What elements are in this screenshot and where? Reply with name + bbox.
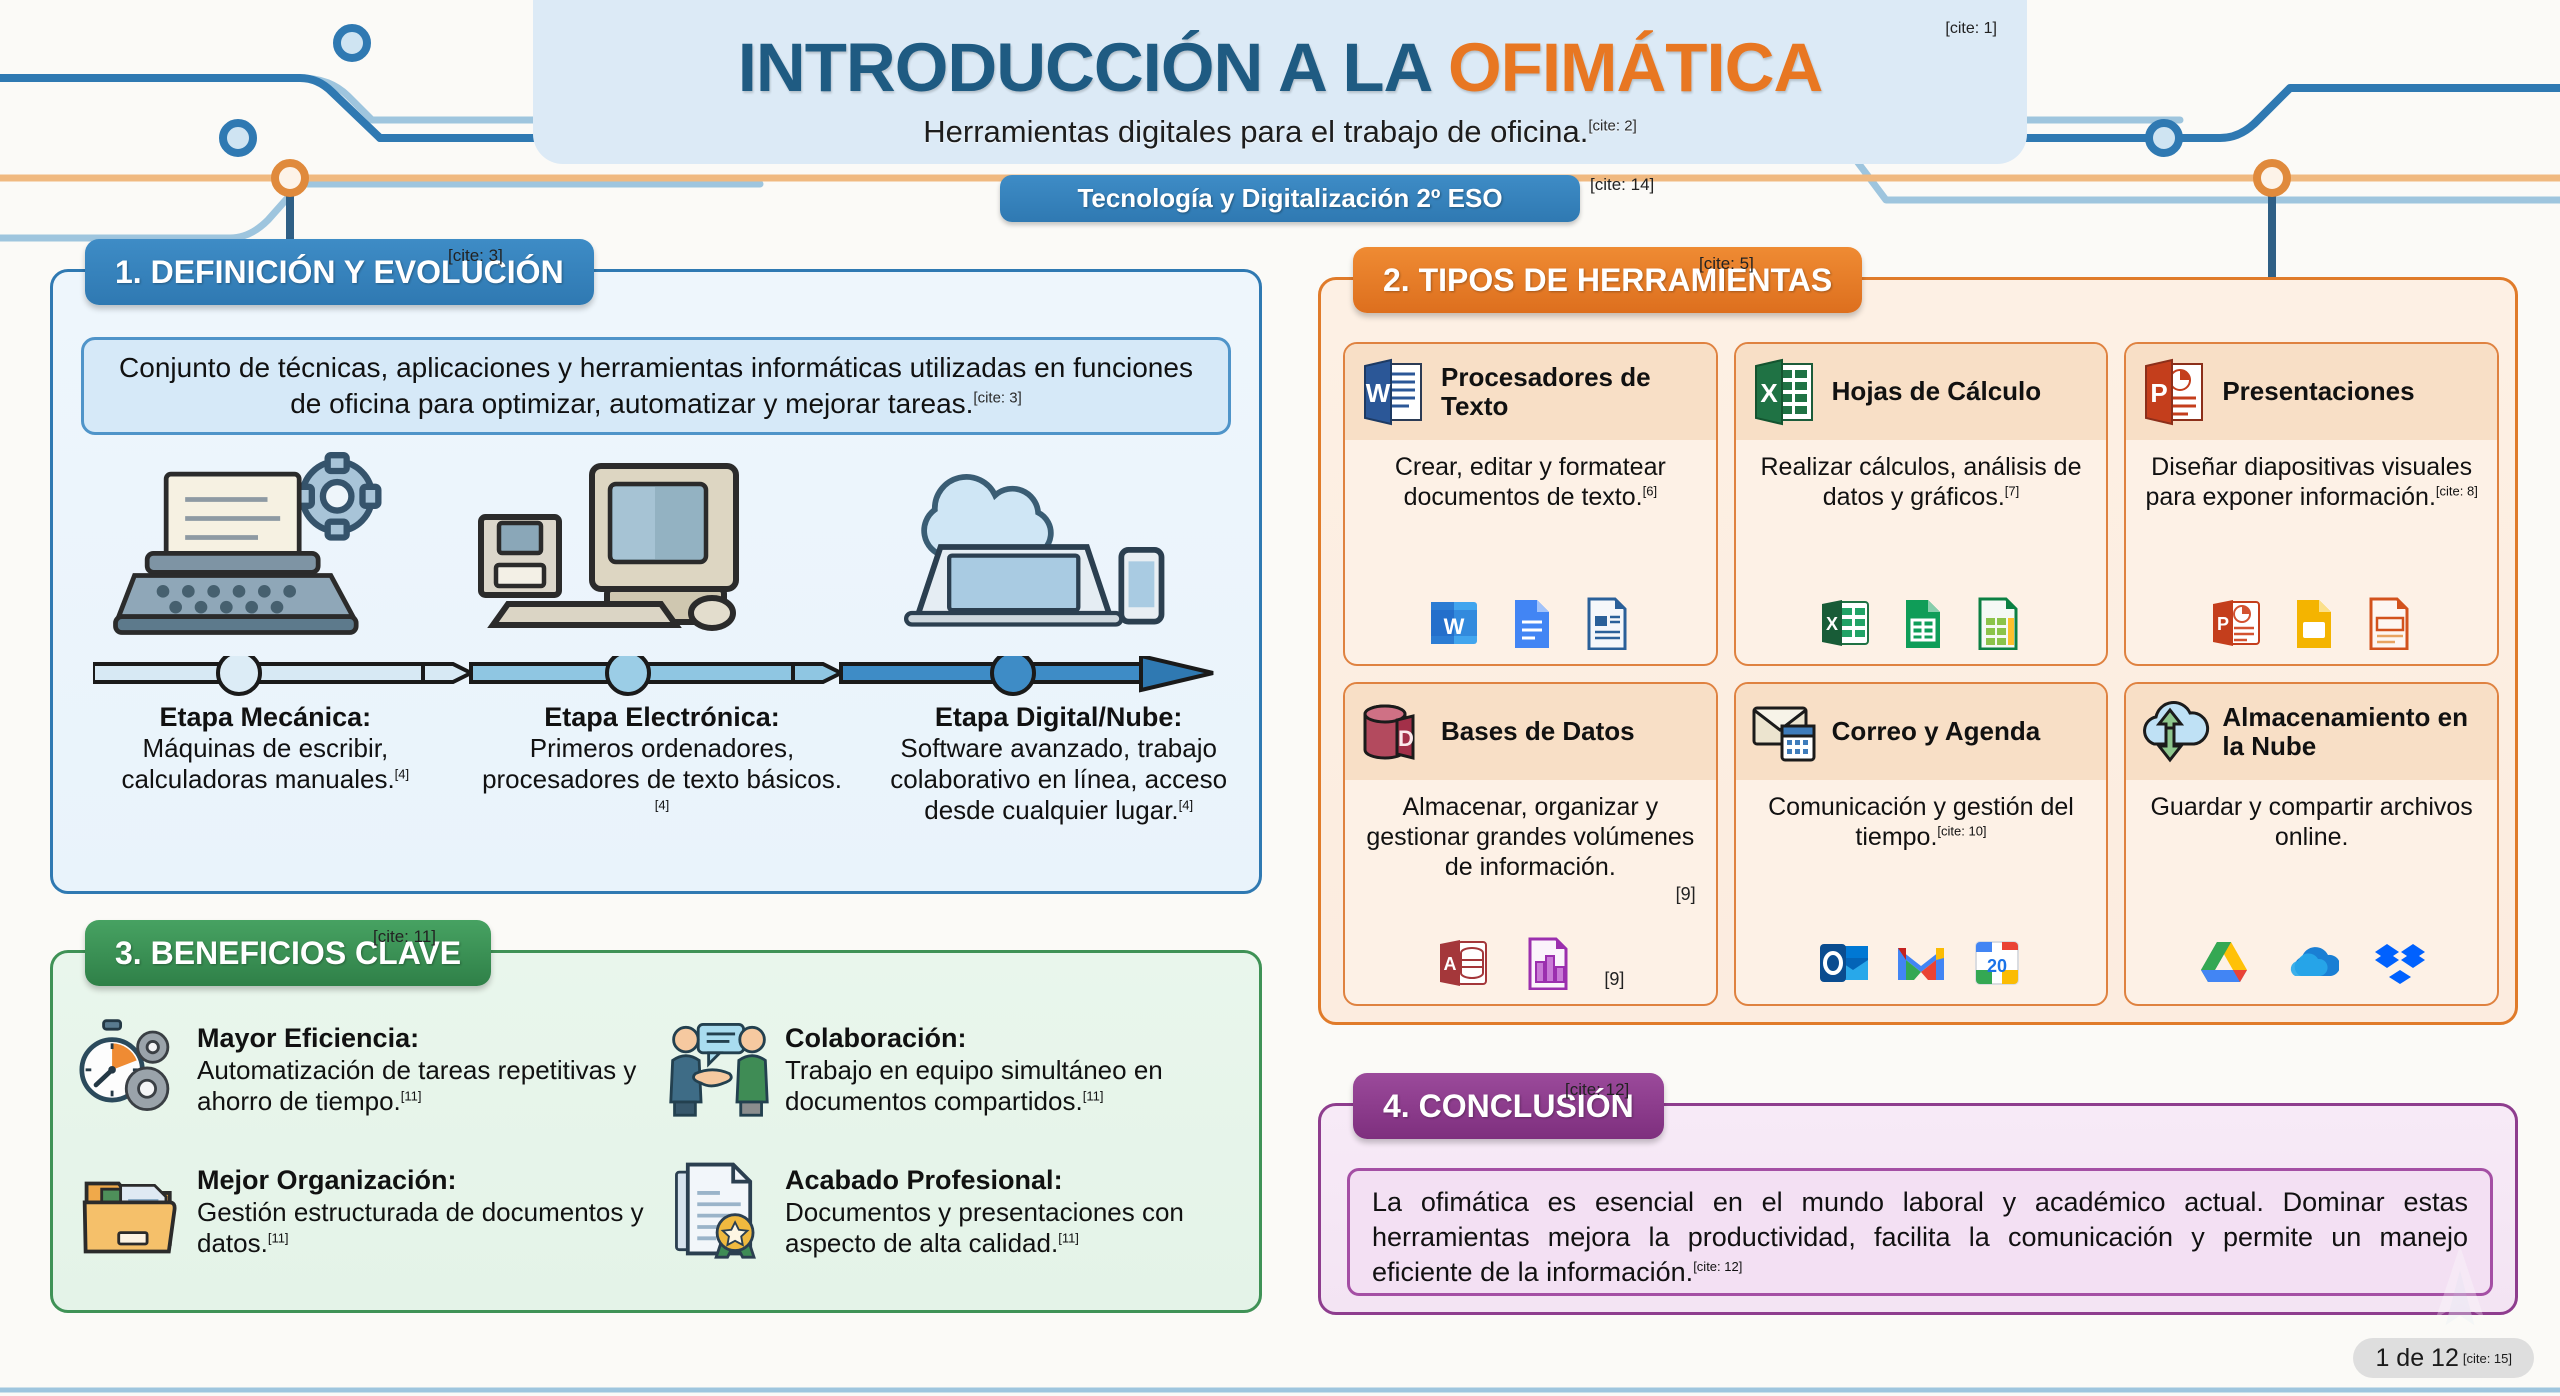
microsoft-powerpoint-icon: P xyxy=(2209,596,2263,650)
benefit-item: Acabado Profesional: Documentos y presen… xyxy=(667,1157,1239,1295)
benefit-desc: Documentos y presentaciones con aspecto … xyxy=(785,1197,1239,1258)
libreoffice-base-icon xyxy=(1520,936,1574,990)
stage-title: Etapa Mecánica: xyxy=(81,702,450,733)
benefit-item: Mejor Organización: Gestión estructurada… xyxy=(79,1157,651,1295)
benefit-cite: [11] xyxy=(1083,1088,1104,1103)
page-subtitle-text: Herramientas digitales para el trabajo d… xyxy=(923,114,1588,149)
page-subtitle: Herramientas digitales para el trabajo d… xyxy=(923,114,1637,150)
benefit-desc: Automatización de tareas repetitivas y a… xyxy=(197,1055,651,1116)
stage-title: Etapa Digital/Nube: xyxy=(874,702,1243,733)
circuit-node xyxy=(275,163,305,193)
database-cylinder-icon: D xyxy=(1357,696,1429,768)
section-beneficios-heading-cite: [cite: 11] xyxy=(373,927,436,947)
microsoft-excel-icon: X xyxy=(1818,596,1872,650)
svg-text:X: X xyxy=(1760,378,1778,408)
tool-card-apps: 20 xyxy=(1736,928,2107,1004)
circuit-node xyxy=(223,123,253,153)
tool-card-desc: Almacenar, organizar y gestionar grandes… xyxy=(1355,792,1706,882)
desktop-computer-floppy-icon xyxy=(463,452,793,642)
tool-card-hojas-calculo[interactable]: X Hojas de Cálculo Realizar cálculos, an… xyxy=(1734,342,2109,666)
section-definicion-heading-cite: [cite: 3] xyxy=(448,246,503,266)
timeline-stage: Etapa Electrónica: Primeros ordenadores,… xyxy=(464,702,861,827)
excel-spreadsheet-icon: X xyxy=(1748,356,1820,428)
envelope-calendar-icon xyxy=(1748,696,1820,768)
tool-card-cite: [cite: 10] xyxy=(1937,824,1986,839)
conclusion-text: La ofimática es esencial en el mundo lab… xyxy=(1372,1187,2468,1287)
svg-text:D: D xyxy=(1398,726,1414,751)
conclusion-box: La ofimática es esencial en el mundo lab… xyxy=(1347,1168,2493,1296)
tool-card-apps: X xyxy=(1736,588,2107,664)
section-definicion-evolucion: 1. DEFINICIÓN Y EVOLUCIÓN [cite: 3] Conj… xyxy=(50,269,1262,894)
hero-banner: INTRODUCCIÓN A LA OFIMÁTICA Herramientas… xyxy=(533,0,2027,164)
svg-text:W: W xyxy=(1366,378,1391,408)
page-subtitle-cite: [cite: 2] xyxy=(1588,118,1636,135)
tool-card-correo-agenda[interactable]: Correo y Agenda Comunicación y gestión d… xyxy=(1734,682,2109,1006)
google-calendar-icon: 20 xyxy=(1970,936,2024,990)
stage-desc-text: Primeros ordenadores, procesadores de te… xyxy=(482,733,842,794)
timeline-stage: Etapa Digital/Nube: Software avanzado, t… xyxy=(860,702,1257,827)
tool-card-title: Correo y Agenda xyxy=(1832,717,2041,746)
svg-text:20: 20 xyxy=(1987,956,2007,976)
stopwatch-gears-icon xyxy=(79,1015,183,1119)
word-document-icon: W xyxy=(1357,356,1429,428)
section-tipos-heading: 2. TIPOS DE HERRAMIENTAS xyxy=(1353,247,1862,313)
section-tipos-heading-label: 2. TIPOS DE HERRAMIENTAS xyxy=(1383,262,1832,299)
benefit-cite: [11] xyxy=(1058,1230,1079,1245)
timeline-node xyxy=(607,656,649,694)
benefit-desc-text: Trabajo en equipo simultáneo en document… xyxy=(785,1055,1163,1116)
benefit-title: Acabado Profesional: xyxy=(785,1165,1239,1197)
libreoffice-writer-icon xyxy=(1579,596,1633,650)
section-conclusion: 4. CONCLUSIÓN [cite: 12] La ofimática es… xyxy=(1318,1103,2518,1315)
tool-card-extra-cite: [9] xyxy=(1676,884,1696,904)
definition-text: Conjunto de técnicas, aplicaciones y her… xyxy=(119,352,1193,419)
stage-desc: Primeros ordenadores, procesadores de te… xyxy=(478,733,847,827)
conclusion-cite: [cite: 12] xyxy=(1693,1259,1742,1274)
benefit-title: Mayor Eficiencia: xyxy=(197,1023,651,1055)
tools-grid: W Procesadores de Texto Crear, editar y … xyxy=(1343,342,2499,1006)
section-conclusion-heading-cite: [cite: 12] xyxy=(1565,1080,1629,1100)
tool-card-cite: [6] xyxy=(1643,484,1657,499)
cloud-upload-download-icon xyxy=(2138,696,2210,768)
page-indicator-label: 1 de 12 xyxy=(2375,1344,2458,1373)
tool-card-apps xyxy=(2126,928,2497,1004)
typewriter-gear-icon xyxy=(93,452,423,642)
page-indicator: 1 de 12[cite: 15] xyxy=(2353,1338,2534,1378)
tool-card-cite: [9] xyxy=(1604,969,1624,990)
circuit-node xyxy=(337,28,367,58)
microsoft-word-icon: W xyxy=(1427,596,1481,650)
benefit-desc: Gestión estructurada de documentos y dat… xyxy=(197,1197,651,1258)
tool-card-apps: A [9] xyxy=(1345,928,1716,1004)
folder-documents-icon xyxy=(79,1157,183,1261)
tool-card-desc: Guardar y compartir archivos online. xyxy=(2136,792,2487,852)
gmail-icon xyxy=(1894,936,1948,990)
google-docs-icon xyxy=(1503,596,1557,650)
tool-card-desc-text: Realizar cálculos, análisis de datos y g… xyxy=(1761,453,2082,511)
tool-card-cite: [7] xyxy=(2005,484,2019,499)
benefit-item: Mayor Eficiencia: Automatización de tare… xyxy=(79,1015,651,1153)
tool-card-desc-text: Guardar y compartir archivos online. xyxy=(2150,793,2472,851)
tool-card-title: Bases de Datos xyxy=(1441,717,1635,746)
timeline-axis xyxy=(93,656,1223,696)
powerpoint-slide-icon: P xyxy=(2138,356,2210,428)
tool-card-title: Hojas de Cálculo xyxy=(1832,377,2042,406)
tool-card-desc-text: Diseñar diapositivas visuales para expon… xyxy=(2145,453,2472,511)
tool-card-apps: P xyxy=(2126,588,2497,664)
page-title-cite: [cite: 1] xyxy=(1945,20,1997,38)
stage-title: Etapa Electrónica: xyxy=(478,702,847,733)
benefit-cite: [11] xyxy=(401,1088,422,1103)
timeline-node xyxy=(218,656,260,694)
tool-card-desc: Comunicación y gestión del tiempo.[cite:… xyxy=(1746,792,2097,852)
tool-card-desc-text: Crear, editar y formatear documentos de … xyxy=(1395,453,1666,511)
timeline-stage: Etapa Mecánica: Máquinas de escribir, ca… xyxy=(67,702,464,827)
microsoft-outlook-icon xyxy=(1818,936,1872,990)
tool-card-procesadores-texto[interactable]: W Procesadores de Texto Crear, editar y … xyxy=(1343,342,1718,666)
section-beneficios-clave: 3. BENEFICIOS CLAVE [cite: 11] xyxy=(50,950,1262,1313)
benefits-grid: Mayor Eficiencia: Automatización de tare… xyxy=(79,1015,1239,1295)
tool-card-almacenamiento-nube[interactable]: Almacenamiento en la Nube Guardar y comp… xyxy=(2124,682,2499,1006)
timeline-stage-list: Etapa Mecánica: Máquinas de escribir, ca… xyxy=(67,702,1257,827)
timeline-illustrations xyxy=(53,452,1265,642)
tool-card-bases-datos[interactable]: D Bases de Datos Almacenar, organizar y … xyxy=(1343,682,1718,1006)
benefit-title: Colaboración: xyxy=(785,1023,1239,1055)
svg-text:W: W xyxy=(1444,614,1465,639)
stage-desc: Software avanzado, trabajo colaborativo … xyxy=(874,733,1243,827)
page-title-accent: OFIMÁTICA xyxy=(1448,29,1822,106)
libreoffice-impress-icon xyxy=(2361,596,2415,650)
document-award-icon xyxy=(667,1157,771,1261)
benefit-desc: Trabajo en equipo simultáneo en document… xyxy=(785,1055,1239,1116)
stage-desc-text: Máquinas de escribir, calculadoras manua… xyxy=(122,733,395,794)
cloud-laptop-mobile-icon xyxy=(843,452,1173,642)
section-tipos-heading-cite: [cite: 5] xyxy=(1699,254,1754,274)
tool-card-title: Presentaciones xyxy=(2222,377,2414,406)
tool-card-presentaciones[interactable]: P Presentaciones Diseñar diapositivas vi… xyxy=(2124,342,2499,666)
benefit-desc-text: Gestión estructurada de documentos y dat… xyxy=(197,1197,644,1258)
handshake-chat-icon xyxy=(667,1015,771,1119)
benefit-cite: [11] xyxy=(268,1230,289,1245)
tool-card-desc-text: Almacenar, organizar y gestionar grandes… xyxy=(1366,793,1694,881)
course-badge-label: Tecnología y Digitalización 2º ESO xyxy=(1077,183,1502,214)
google-drive-icon xyxy=(2197,936,2251,990)
page-indicator-cite: [cite: 15] xyxy=(2463,1351,2512,1366)
svg-text:X: X xyxy=(1826,614,1838,634)
svg-text:P: P xyxy=(2151,378,2168,408)
watermark-logo xyxy=(2400,1234,2520,1354)
svg-text:P: P xyxy=(2217,614,2229,634)
tool-card-desc-text: Comunicación y gestión del tiempo. xyxy=(1768,793,2074,851)
stage-cite: [4] xyxy=(395,767,409,782)
course-badge-cite: [cite: 14] xyxy=(1590,175,1654,195)
page-title-main: INTRODUCCIÓN A LA xyxy=(738,29,1448,106)
benefit-desc-text: Automatización de tareas repetitivas y a… xyxy=(197,1055,636,1116)
page-title: INTRODUCCIÓN A LA OFIMÁTICA xyxy=(738,32,1823,104)
svg-text:A: A xyxy=(1444,954,1457,974)
stage-desc: Máquinas de escribir, calculadoras manua… xyxy=(81,733,450,795)
stage-cite: [4] xyxy=(1179,798,1193,813)
benefit-desc-text: Documentos y presentaciones con aspecto … xyxy=(785,1197,1184,1258)
tool-card-title: Almacenamiento en la Nube xyxy=(2222,703,2485,761)
microsoft-access-icon: A xyxy=(1436,936,1490,990)
circuit-node xyxy=(2149,123,2179,153)
tool-card-cite: [cite: 8] xyxy=(2436,484,2478,499)
tool-card-desc: Diseñar diapositivas visuales para expon… xyxy=(2136,452,2487,512)
tool-card-desc: Crear, editar y formatear documentos de … xyxy=(1355,452,1706,512)
libreoffice-calc-icon xyxy=(1970,596,2024,650)
stage-cite: [4] xyxy=(655,798,669,813)
circuit-node xyxy=(2257,163,2287,193)
tool-card-apps: W xyxy=(1345,588,1716,664)
google-sheets-icon xyxy=(1894,596,1948,650)
benefit-item: Colaboración: Trabajo en equipo simultán… xyxy=(667,1015,1239,1153)
definition-box: Conjunto de técnicas, aplicaciones y her… xyxy=(81,337,1231,435)
course-badge: Tecnología y Digitalización 2º ESO xyxy=(1000,175,1580,222)
benefit-title: Mejor Organización: xyxy=(197,1165,651,1197)
dropbox-icon xyxy=(2373,936,2427,990)
onedrive-icon xyxy=(2285,936,2339,990)
definition-cite: [cite: 3] xyxy=(973,390,1021,407)
timeline-node xyxy=(992,656,1034,694)
tool-card-desc: Realizar cálculos, análisis de datos y g… xyxy=(1746,452,2097,512)
tool-card-title: Procesadores de Texto xyxy=(1441,363,1704,421)
google-slides-icon xyxy=(2285,596,2339,650)
section-definicion-heading: 1. DEFINICIÓN Y EVOLUCIÓN xyxy=(85,239,594,305)
stage-desc-text: Software avanzado, trabajo colaborativo … xyxy=(890,733,1227,825)
section-tipos-herramientas: 2. TIPOS DE HERRAMIENTAS [cite: 5] W Pro… xyxy=(1318,277,2518,1025)
